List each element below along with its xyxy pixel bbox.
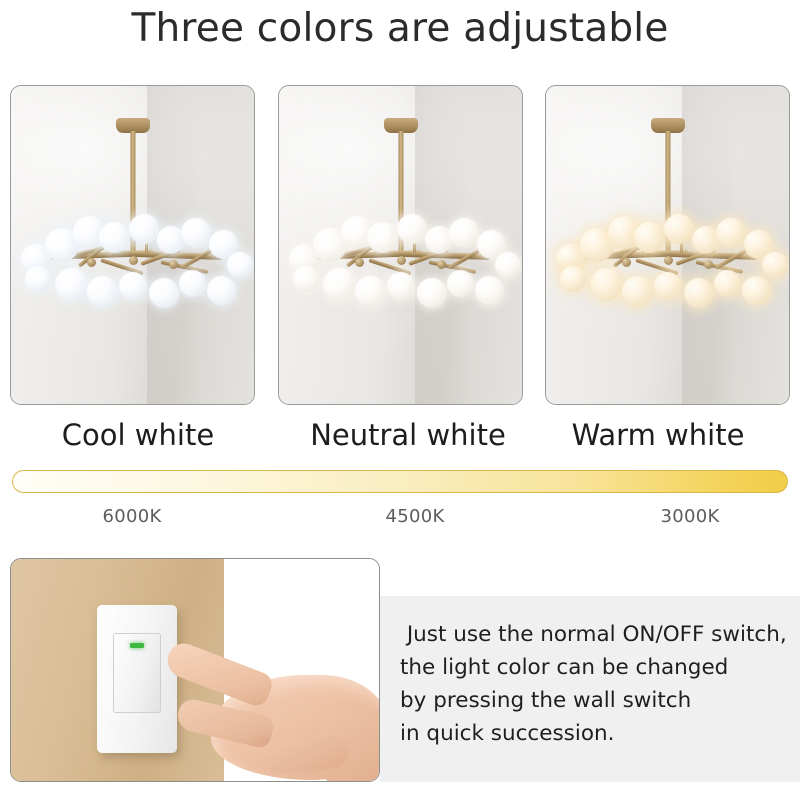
glass-globe	[590, 268, 623, 301]
tick-6000k: 6000K	[52, 506, 212, 527]
label-warm-white: Warm white	[528, 418, 788, 452]
glass-globe	[55, 268, 88, 301]
glass-globe	[622, 276, 653, 307]
index-finger	[162, 639, 275, 709]
glass-globe	[449, 218, 479, 248]
switch-plate[interactable]	[97, 605, 177, 753]
glass-globe	[293, 266, 319, 292]
glass-globe	[149, 278, 179, 308]
glass-globe	[129, 214, 159, 244]
color-preview-panels	[0, 85, 800, 407]
joint	[87, 258, 96, 267]
page-title: Three colors are adjustable	[0, 6, 800, 51]
glass-globe	[684, 278, 714, 308]
led-indicator-icon	[130, 643, 144, 648]
glass-globe	[475, 276, 504, 305]
glass-globe	[99, 222, 130, 253]
glass-globe	[716, 218, 746, 248]
glass-globe	[179, 270, 206, 297]
glass-globe	[714, 270, 741, 297]
instruction-line-2: the light color can be changed	[400, 651, 800, 684]
glass-globe	[447, 270, 474, 297]
joint	[437, 260, 446, 269]
label-neutral-white: Neutral white	[278, 418, 538, 452]
glass-globe	[227, 252, 253, 278]
joint	[704, 260, 713, 269]
glass-globe	[495, 252, 521, 278]
glass-globe	[664, 214, 694, 244]
chandelier-warm-white	[546, 86, 789, 404]
joint	[664, 256, 673, 265]
wall-switch-photo[interactable]	[10, 558, 380, 782]
joint	[129, 256, 138, 265]
joint	[397, 256, 406, 265]
glass-globe	[397, 214, 427, 244]
panel-neutral-white[interactable]	[278, 85, 523, 405]
joint	[622, 258, 631, 267]
tick-3000k: 3000K	[610, 506, 770, 527]
glass-globe	[323, 268, 356, 301]
tick-4500k: 4500K	[335, 506, 495, 527]
instruction-line-1: Just use the normal ON/OFF switch,	[400, 618, 800, 651]
instruction-line-4: in quick succession.	[400, 717, 800, 750]
color-temperature-ticks: 6000K 4500K 3000K	[0, 506, 800, 530]
glass-globe	[355, 276, 386, 307]
joint	[355, 258, 364, 267]
glass-globe	[367, 222, 398, 253]
instruction-text: Just use the normal ON/OFF switch, the l…	[400, 618, 800, 750]
color-labels: Cool white Neutral white Warm white	[0, 418, 800, 460]
glass-globe	[119, 272, 147, 300]
panel-warm-white[interactable]	[545, 85, 790, 405]
glass-globe	[181, 218, 211, 248]
glass-globe	[742, 276, 771, 305]
chandelier-cool-white	[11, 86, 254, 404]
color-temperature-bar	[12, 470, 788, 493]
glass-globe	[654, 272, 682, 300]
rocker-switch[interactable]	[113, 633, 161, 713]
glass-globe	[634, 222, 665, 253]
glass-globe	[762, 252, 788, 278]
hand-illustration	[171, 645, 380, 782]
glass-globe	[560, 266, 586, 292]
instruction-line-3: by pressing the wall switch	[400, 684, 800, 717]
label-cool-white: Cool white	[8, 418, 268, 452]
glass-globe	[387, 272, 415, 300]
joint	[169, 260, 178, 269]
glass-globe	[25, 266, 51, 292]
glass-globe	[417, 278, 447, 308]
chandelier-neutral-white	[279, 86, 522, 404]
glass-globe	[207, 276, 236, 305]
panel-cool-white[interactable]	[10, 85, 255, 405]
glass-globe	[87, 276, 118, 307]
